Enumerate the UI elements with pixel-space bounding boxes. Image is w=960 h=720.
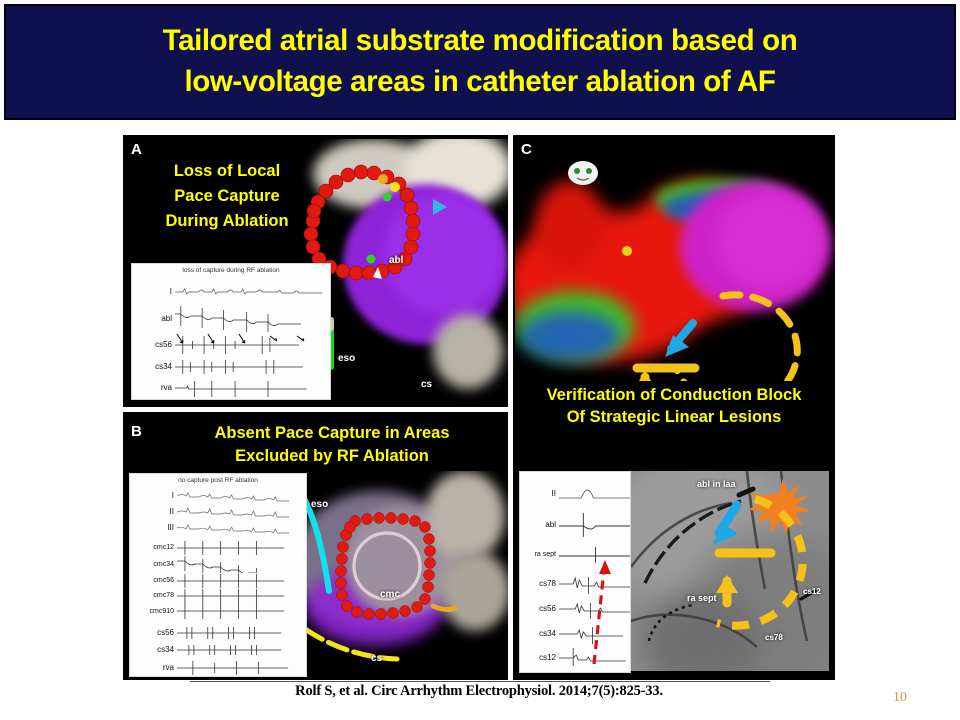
panel-a-ecg-trace-1 — [175, 304, 330, 332]
panel-b-caption-line-1: Absent Pace Capture in Areas — [167, 423, 497, 444]
panel-a-ecg-row-1: abl — [132, 304, 330, 332]
panel-a-ecg: loss of capture during RF ablation I abl… — [131, 263, 331, 400]
citation-text: Rolf S, et al. Circ Arrhythm Electrophys… — [123, 683, 835, 700]
panel-c-ecg: II abl ra sept cs78 cs56 cs34 cs12 — [519, 471, 631, 673]
panel-b-ecg-label-5: cmc56 — [130, 577, 177, 584]
panel-b-ecg-label-4: cmc34 — [130, 561, 177, 568]
panel-c-ecg-label-4: cs56 — [520, 604, 559, 613]
panel-b-label-eso: eso — [311, 499, 328, 510]
panel-b-ecg-row-9: cs34 — [130, 641, 306, 658]
panel-b-ecg-label-2: III — [130, 523, 177, 532]
panel-a-caption-line-3: During Ablation — [141, 211, 313, 232]
citation-rule — [190, 681, 770, 682]
panel-b-ecg-title: no capture post RF ablation — [130, 477, 306, 484]
panel-a-ecg-row-3: cs34 — [132, 356, 330, 377]
panel-c-ecg-trace-2 — [559, 542, 630, 566]
panel-a-ecg-trace-4 — [175, 377, 330, 398]
panel-c-ecg-label-2: ra sept — [520, 551, 559, 558]
panel-b-label-cs: cs — [371, 653, 382, 664]
panel-a-ecg-label-3: cs34 — [132, 362, 175, 371]
panel-b-ecg-trace-10 — [177, 659, 306, 675]
panel-c-caption-line-2: Of Strategic Linear Lesions — [521, 407, 827, 428]
panel-a-ecg-trace-2 — [175, 332, 330, 356]
fluoro-label-cs78: cs78 — [765, 633, 783, 642]
panel-c-ecg-row-4: cs56 — [520, 597, 630, 619]
panel-a-caption-line-1: Loss of Local — [147, 161, 307, 182]
panel-c-ecg-trace-5 — [559, 622, 630, 644]
panel-a-ecg-label-4: rva — [132, 383, 175, 392]
panel-c-ecg-row-5: cs34 — [520, 622, 630, 644]
panel-b-ecg-row-7: cmc910 — [130, 603, 306, 619]
panel-c-activation-map — [515, 151, 835, 381]
panel-b-ecg-label-6: cmc78 — [130, 592, 177, 599]
panel-b-ecg-trace-6 — [177, 588, 306, 603]
panel-b-ecg-label-10: rva — [130, 663, 177, 672]
panel-b-ecg-trace-3 — [177, 540, 306, 555]
slide-title-band: Tailored atrial substrate modification b… — [4, 4, 956, 120]
panel-a-ecg-label-1: abl — [132, 314, 175, 323]
panel-a-ecg-title: loss of capture during RF ablation — [132, 267, 330, 274]
panel-b-ecg: no capture post RF ablation I II III cmc… — [129, 473, 307, 677]
panel-b-ecg-trace-2 — [177, 520, 306, 534]
panel-c-letter: C — [521, 141, 532, 158]
panel-b-ecg-row-5: cmc56 — [130, 573, 306, 588]
panel-c-ecg-row-0: II — [520, 480, 630, 506]
panel-a-ecg-label-2: cs56 — [132, 340, 175, 349]
figure-composite: A Loss of Local Pace Capture During Abla… — [123, 135, 835, 680]
panel-a-ecg-label-0: I — [132, 287, 175, 296]
panel-b-ecg-label-7: cmc910 — [130, 608, 177, 615]
panel-c-ecg-label-0: II — [520, 489, 559, 498]
panel-b-ecg-label-9: cs34 — [130, 645, 177, 654]
panel-a-ecg-row-4: rva — [132, 377, 330, 398]
title-line-1: Tailored atrial substrate modification b… — [163, 21, 798, 62]
panel-a-label-eso: eso — [338, 353, 355, 364]
panel-c-ecg-label-1: abl — [520, 520, 559, 529]
panel-b-caption-line-2: Excluded by RF Ablation — [167, 446, 497, 467]
panel-b-ecg-label-1: II — [130, 507, 177, 516]
panel-c-ecg-row-1: abl — [520, 510, 630, 538]
panel-c-ecg-row-6: cs12 — [520, 646, 630, 668]
panel-a-ecg-trace-0 — [175, 280, 330, 302]
fluoro-label-cs12: cs12 — [803, 587, 821, 596]
fluoro-overlay — [631, 471, 829, 671]
panel-a-caption-line-2: Pace Capture — [147, 186, 307, 207]
panel-c-ecg-trace-4 — [559, 597, 630, 619]
panel-c-ecg-trace-1 — [559, 510, 630, 538]
panel-a-ecg-trace-3 — [175, 356, 330, 377]
fluoro-label-ra-sept: ra sept — [687, 593, 717, 603]
panel-b-label-cmc: cmc — [380, 589, 400, 600]
panel-b-ecg-row-0: I — [130, 488, 306, 502]
panel-b-ecg-row-1: II — [130, 504, 306, 518]
panel-a-label-cs: cs — [421, 379, 432, 390]
panel-b-ecg-row-3: cmc12 — [130, 540, 306, 555]
panel-b-ecg-label-0: I — [130, 491, 177, 500]
panel-a-ecg-row-0: I — [132, 280, 330, 302]
panel-b-letter: B — [131, 423, 142, 440]
panel-a-ecg-row-2: cs56 — [132, 332, 330, 356]
fluoro-label-abl-in-laa: abl in laa — [697, 479, 736, 489]
panel-c-ecg-trace-3 — [559, 572, 630, 594]
panel-b-ecg-trace-1 — [177, 504, 306, 518]
panel-b-ecg-label-8: cs56 — [130, 628, 177, 637]
panel-b-ecg-trace-4 — [177, 555, 306, 573]
panel-b-ecg-trace-9 — [177, 641, 306, 658]
panel-c-fluoroscopy: abl in laa ra sept cs12 cs78 — [631, 471, 829, 671]
panel-b-ecg-row-2: III — [130, 520, 306, 534]
panel-b-ecg-trace-0 — [177, 488, 306, 502]
figure-divider-horizontal — [123, 407, 508, 412]
title-line-2: low-voltage areas in catheter ablation o… — [184, 62, 775, 103]
panel-c-ecg-label-6: cs12 — [520, 653, 559, 662]
ablation-starburst — [748, 478, 810, 534]
panel-a-letter: A — [131, 141, 142, 158]
panel-c-ecg-label-3: cs78 — [520, 579, 559, 588]
pc-annotation-overlay — [515, 151, 835, 381]
panel-b-ecg-trace-7 — [177, 603, 306, 619]
panel-b-ecg-row-4: cmc34 — [130, 555, 306, 573]
panel-c-ecg-row-2: ra sept — [520, 542, 630, 566]
panel-b-ecg-label-3: cmc12 — [130, 544, 177, 551]
panel-c-ecg-label-5: cs34 — [520, 629, 559, 638]
panel-c-caption-line-1: Verification of Conduction Block — [521, 385, 827, 406]
panel-b-ecg-row-6: cmc78 — [130, 588, 306, 603]
panel-b-ecg-trace-5 — [177, 573, 306, 588]
panel-a-label-abl: abl — [389, 255, 403, 266]
panel-b-3d-map: eso cmc cs — [285, 471, 508, 677]
panel-b-ecg-row-8: cs56 — [130, 624, 306, 641]
page-number: 10 — [893, 690, 907, 706]
panel-c-ecg-trace-0 — [559, 480, 630, 506]
panel-c-ecg-trace-6 — [559, 646, 630, 668]
panel-c-ecg-row-3: cs78 — [520, 572, 630, 594]
panel-b-ecg-trace-8 — [177, 624, 306, 641]
panel-b-ecg-row-10: rva — [130, 659, 306, 675]
figure-divider-vertical — [508, 135, 513, 680]
